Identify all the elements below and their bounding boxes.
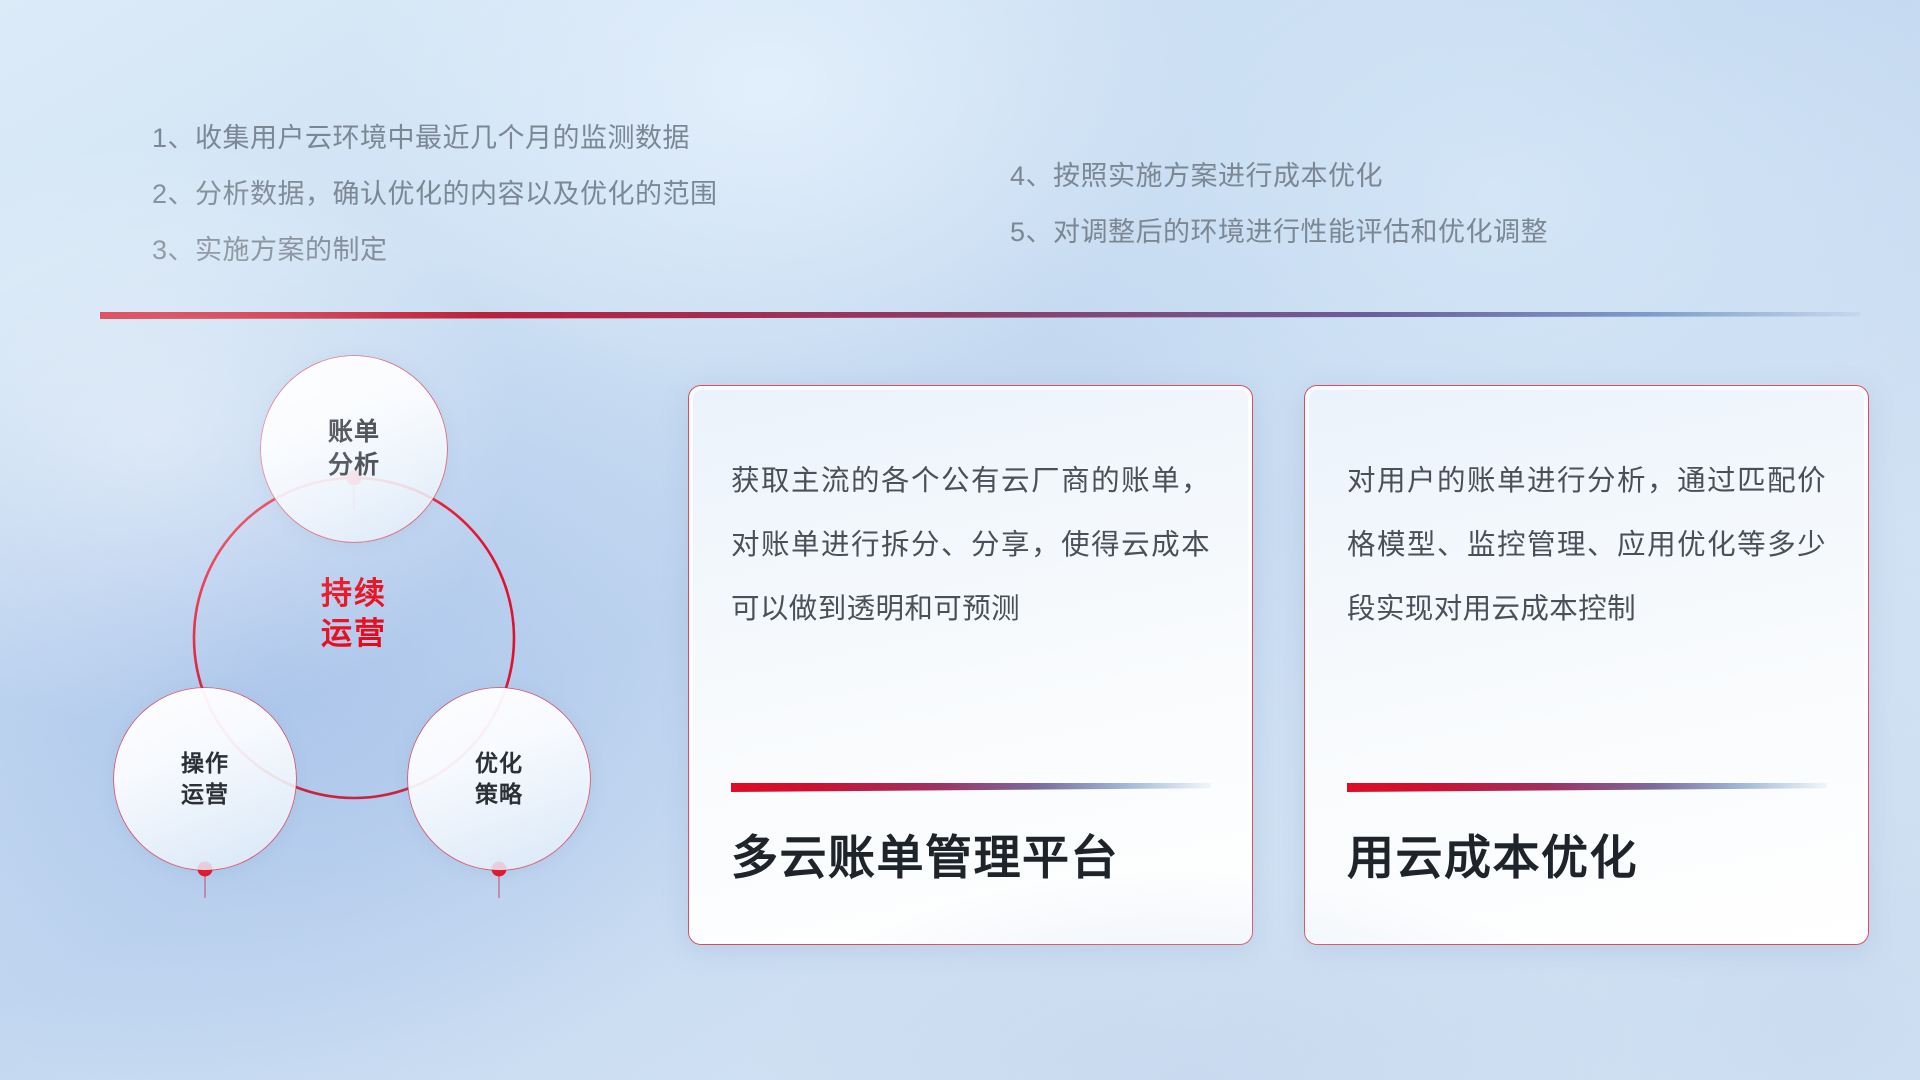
- venn-bubble-billing-analysis[interactable]: 账单 分析: [261, 356, 447, 542]
- card-inner: 对用户的账单进行分析，通过匹配价格模型、监控管理、应用优化等多少段实现对用云成本…: [1305, 386, 1868, 944]
- card-title: 用云成本优化: [1347, 819, 1638, 888]
- card-body-text: 获取主流的各个公有云厂商的账单，对账单进行拆分、分享，使得云成本可以做到透明和可…: [731, 450, 1210, 708]
- step-item-3: 3、实施方案的制定: [152, 237, 718, 264]
- section-divider: [100, 312, 1860, 319]
- venn-bubble-optimization-strategy[interactable]: 优化 策略: [408, 688, 590, 870]
- venn-bubble-label-line2: 分析: [328, 449, 380, 483]
- card-title: 多云账单管理平台: [731, 819, 1119, 888]
- step-item-4: 4、按照实施方案进行成本优化: [1010, 163, 1548, 190]
- step-item-1: 1、收集用户云环境中最近几个月的监测数据: [152, 125, 718, 152]
- venn-diagram: 账单 分析 操作 运营 优化 策略 持续 运营: [100, 350, 640, 930]
- venn-bubble-label-line2: 运营: [181, 779, 229, 810]
- venn-bubble-label-line2: 策略: [475, 779, 523, 810]
- slide-canvas: 1、收集用户云环境中最近几个月的监测数据 2、分析数据，确认优化的内容以及优化的…: [0, 0, 1920, 1080]
- venn-bubble-label-line1: 操作: [181, 748, 229, 779]
- venn-center-label-line2: 运营: [283, 614, 425, 654]
- steps-list-right: 4、按照实施方案进行成本优化 5、对调整后的环境进行性能评估和优化调整: [1010, 163, 1548, 246]
- venn-bubble-operations[interactable]: 操作 运营: [114, 688, 296, 870]
- card-body-text: 对用户的账单进行分析，通过匹配价格模型、监控管理、应用优化等多少段实现对用云成本…: [1347, 450, 1826, 708]
- card-inner: 获取主流的各个公有云厂商的账单，对账单进行拆分、分享，使得云成本可以做到透明和可…: [689, 386, 1252, 944]
- venn-bubble-label-line1: 账单: [328, 416, 380, 450]
- venn-center-label-line1: 持续: [283, 574, 425, 614]
- steps-list-left: 1、收集用户云环境中最近几个月的监测数据 2、分析数据，确认优化的内容以及优化的…: [152, 125, 718, 264]
- card-accent-rule: [731, 783, 1211, 792]
- step-item-2: 2、分析数据，确认优化的内容以及优化的范围: [152, 181, 718, 208]
- step-item-5: 5、对调整后的环境进行性能评估和优化调整: [1010, 219, 1548, 246]
- feature-card-multicloud-billing[interactable]: 获取主流的各个公有云厂商的账单，对账单进行拆分、分享，使得云成本可以做到透明和可…: [688, 385, 1253, 945]
- venn-center-label: 持续 运营: [283, 574, 425, 653]
- feature-card-cloud-cost-optimization[interactable]: 对用户的账单进行分析，通过匹配价格模型、监控管理、应用优化等多少段实现对用云成本…: [1304, 385, 1869, 945]
- venn-bubble-label-line1: 优化: [475, 748, 523, 779]
- card-accent-rule: [1347, 783, 1827, 792]
